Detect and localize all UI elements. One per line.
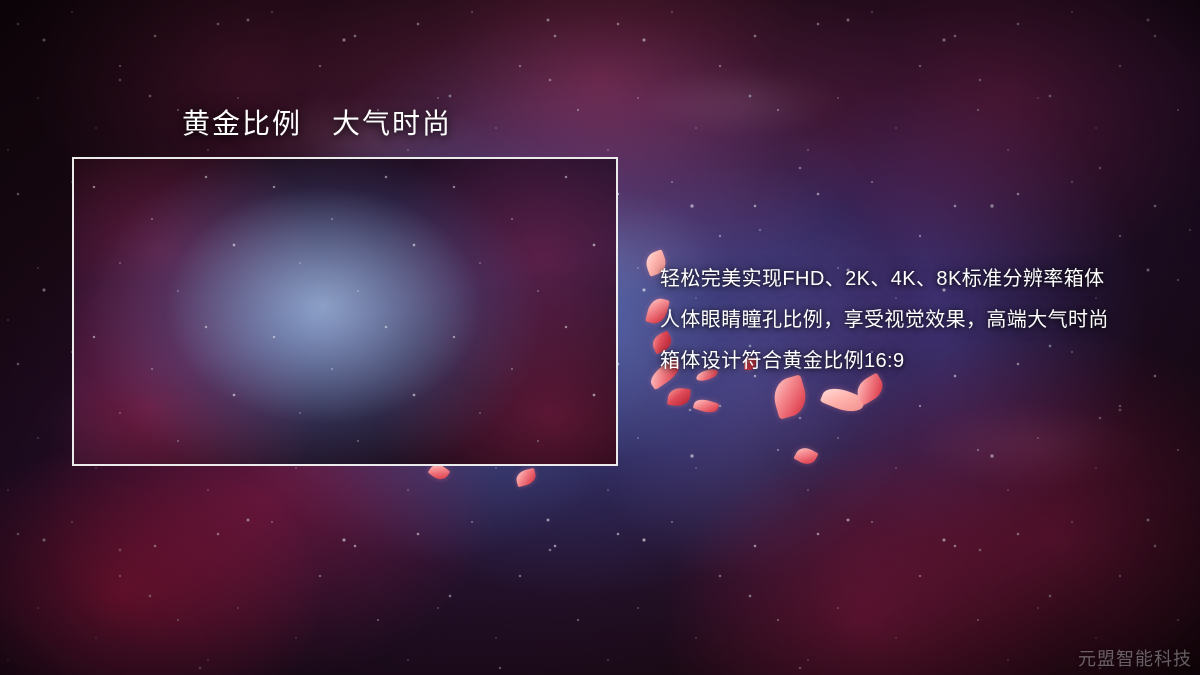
- body-line-2: 人体眼睛瞳孔比例，享受视觉效果，高端大气时尚: [660, 300, 1180, 341]
- body-line-1: 轻松完美实现FHD、2K、4K、8K标准分辨率箱体: [660, 259, 1180, 300]
- page-title: 黄金比例 大气时尚: [182, 102, 452, 142]
- company-watermark: 元盟智能科技: [1078, 645, 1192, 671]
- slide-canvas: 黄金比例 大气时尚 轻松完美实现FHD、2K、4K、8K标准分辨率箱体 人体眼睛…: [0, 0, 1200, 675]
- image-frame-panel: [72, 157, 618, 466]
- body-text-block: 轻松完美实现FHD、2K、4K、8K标准分辨率箱体 人体眼睛瞳孔比例，享受视觉效…: [660, 259, 1180, 382]
- frame-starfield: [74, 159, 616, 464]
- body-line-3: 箱体设计符合黄金比例16:9: [660, 341, 1180, 382]
